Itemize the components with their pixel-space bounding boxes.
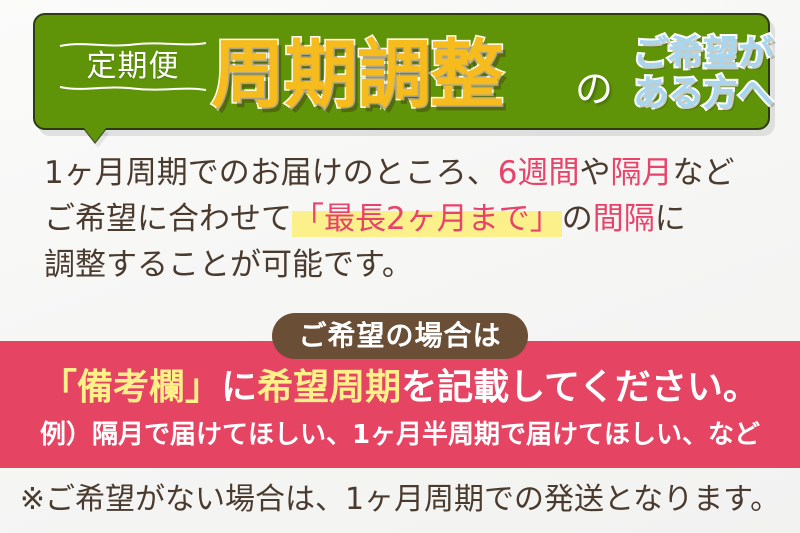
- desc-l1-highlight-6weeks: 6週間: [498, 155, 580, 191]
- desc-l2-highlight-interval: 間隔: [593, 201, 655, 237]
- request-case-badge: ご希望の場合は: [272, 313, 528, 359]
- subscription-label-block: 定期便: [57, 41, 209, 92]
- header-speech-bubble: 定期便 周期調整 の ご希望が ある方へ: [33, 13, 770, 130]
- header-target-audience-line1: ご希望が: [623, 34, 783, 74]
- header-title-particle: の: [575, 69, 613, 109]
- desc-l2-part2: の: [562, 201, 593, 237]
- banner-root: 定期便 周期調整 の ご希望が ある方へ 1ヶ月周期でのお届けのところ、6週間や…: [0, 0, 800, 533]
- desc-l1-highlight-everyothermonth: 隔月: [610, 155, 672, 191]
- instruction-part2: を記載してください。: [401, 367, 759, 408]
- description-line-3: 調整することが可能です。: [44, 242, 774, 288]
- description-paragraph: 1ヶ月周期でのお届けのところ、6週間や隔月など ご希望に合わせて「最長2ヶ月まで…: [44, 150, 774, 288]
- desc-l1-part2: や: [579, 155, 610, 191]
- header-target-audience: ご希望が ある方へ: [623, 34, 783, 114]
- instruction-headline: 「備考欄」に希望周期を記載してください。: [0, 366, 800, 410]
- instruction-band: 「備考欄」に希望周期を記載してください。 例）隔月で届けてほしい、1ヶ月半周期で…: [0, 341, 800, 468]
- subscription-label: 定期便: [57, 50, 209, 84]
- instruction-desired-cycle: 希望周期: [257, 367, 401, 408]
- desc-l2-part3: に: [655, 201, 686, 237]
- desc-l2-part1: ご希望に合わせて: [44, 201, 292, 237]
- wavy-line-bottom-icon: [59, 85, 207, 92]
- desc-l2-marker-maxtwomonths: 「最長2ヶ月まで」: [292, 201, 562, 237]
- description-line-2: ご希望に合わせて「最長2ヶ月まで」の間隔に: [44, 196, 774, 242]
- request-case-badge-label: ご希望の場合は: [298, 321, 501, 351]
- instruction-part1: に: [221, 367, 257, 408]
- desc-l1-part3: など: [672, 155, 734, 191]
- wavy-line-top-icon: [59, 41, 207, 48]
- header-title: 周期調整: [211, 29, 503, 121]
- instruction-examples: 例）隔月で届けてほしい、1ヶ月半周期で届けてほしい、など: [0, 419, 800, 451]
- default-shipping-note: ※ご希望がない場合は、1ヶ月周期での発送となります。: [0, 480, 800, 520]
- header-target-audience-line2: ある方へ: [623, 74, 783, 114]
- desc-l1-part1: 1ヶ月周期でのお届けのところ、: [44, 155, 498, 191]
- instruction-remarks-field: 「備考欄」: [41, 367, 221, 408]
- speech-bubble-tail-icon: [84, 128, 106, 142]
- description-line-1: 1ヶ月周期でのお届けのところ、6週間や隔月など: [44, 150, 774, 196]
